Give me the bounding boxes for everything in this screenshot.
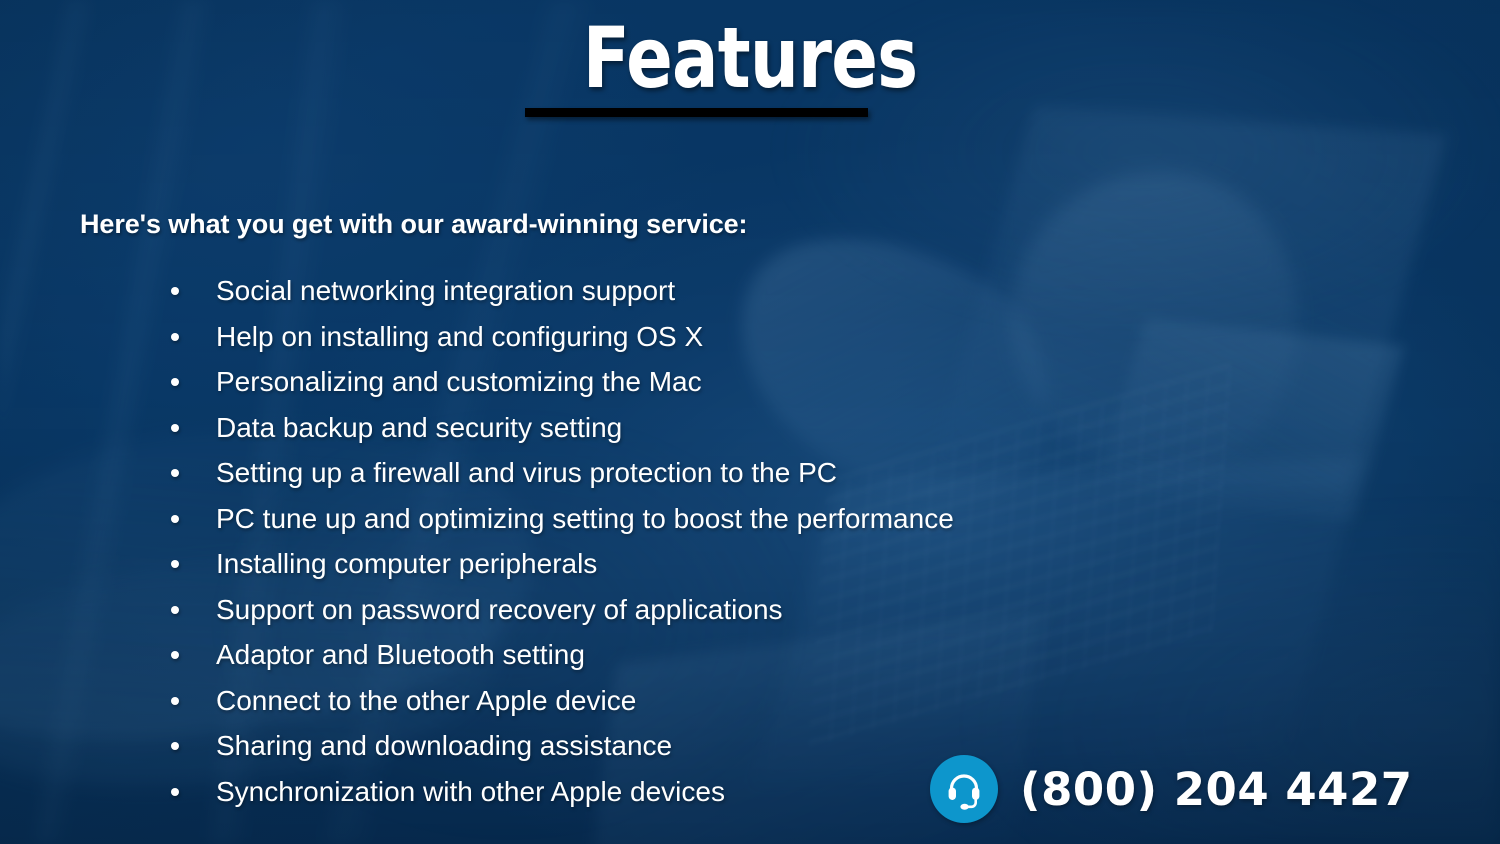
list-item-label: Data backup and security setting — [216, 412, 622, 443]
list-item: Adaptor and Bluetooth setting — [168, 632, 954, 678]
contact-phone-badge[interactable]: (800) 204 4427 — [930, 755, 1413, 823]
list-item-label: Setting up a firewall and virus protecti… — [216, 457, 837, 488]
headset-icon — [930, 755, 998, 823]
list-item-label: Social networking integration support — [216, 275, 675, 306]
phone-number[interactable]: (800) 204 4427 — [1020, 767, 1413, 812]
title-underline — [525, 108, 868, 117]
bullet-dot-icon — [171, 469, 179, 477]
list-item-label: Personalizing and customizing the Mac — [216, 366, 702, 397]
background-document-shape — [1096, 319, 1405, 522]
bullet-dot-icon — [171, 378, 179, 386]
list-item: Setting up a firewall and virus protecti… — [168, 450, 954, 496]
list-item: Support on password recovery of applicat… — [168, 587, 954, 633]
list-item: Data backup and security setting — [168, 405, 954, 451]
list-item: PC tune up and optimizing setting to boo… — [168, 496, 954, 542]
list-item: Sharing and downloading assistance — [168, 723, 954, 769]
bullet-dot-icon — [171, 697, 179, 705]
bullet-dot-icon — [171, 515, 179, 523]
bullet-dot-icon — [171, 424, 179, 432]
list-item: Help on installing and configuring OS X — [168, 314, 954, 360]
list-item: Installing computer peripherals — [168, 541, 954, 587]
bullet-dot-icon — [171, 333, 179, 341]
list-item-label: Installing computer peripherals — [216, 548, 597, 579]
list-item-label: Connect to the other Apple device — [216, 685, 636, 716]
list-item-label: Adaptor and Bluetooth setting — [216, 639, 585, 670]
bullet-dot-icon — [171, 742, 179, 750]
bullet-dot-icon — [171, 287, 179, 295]
page-title: Features — [583, 16, 918, 100]
bullet-dot-icon — [171, 788, 179, 796]
title-block: Features — [0, 16, 1500, 100]
bullet-dot-icon — [171, 560, 179, 568]
slide-canvas: Features Here's what you get with our aw… — [0, 0, 1500, 844]
list-item: Personalizing and customizing the Mac — [168, 359, 954, 405]
list-item: Social networking integration support — [168, 268, 954, 314]
list-item: Synchronization with other Apple devices — [168, 769, 954, 815]
feature-list: Social networking integration support He… — [168, 268, 954, 814]
list-item-label: Support on password recovery of applicat… — [216, 594, 783, 625]
list-item-label: Sharing and downloading assistance — [216, 730, 672, 761]
list-item-label: PC tune up and optimizing setting to boo… — [216, 503, 954, 534]
list-item-label: Help on installing and configuring OS X — [216, 321, 703, 352]
subtitle: Here's what you get with our award-winni… — [80, 209, 747, 240]
bullet-dot-icon — [171, 606, 179, 614]
bullet-dot-icon — [171, 651, 179, 659]
list-item-label: Synchronization with other Apple devices — [216, 776, 725, 807]
list-item: Connect to the other Apple device — [168, 678, 954, 724]
